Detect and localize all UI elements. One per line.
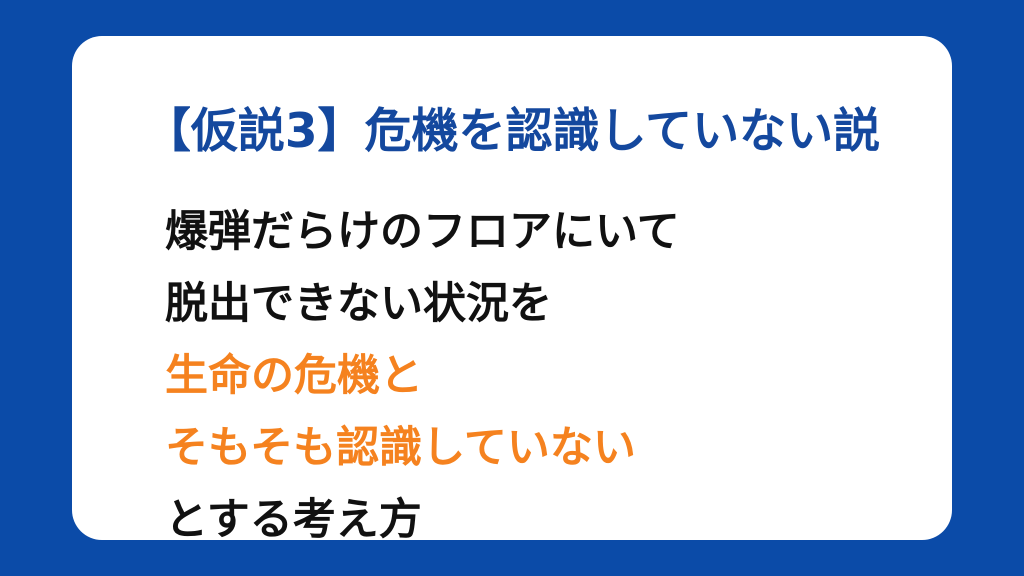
body-line-3-highlight: 生命の危機と <box>165 340 935 412</box>
body-line-5: とする考え方 <box>165 484 935 556</box>
content-card: 【仮説3】危機を認識していない説 爆弾だらけのフロアにいて 脱出できない状況を … <box>72 36 952 540</box>
body-line-1: 爆弾だらけのフロアにいて <box>165 196 935 268</box>
slide-canvas: 【仮説3】危機を認識していない説 爆弾だらけのフロアにいて 脱出できない状況を … <box>0 0 1024 576</box>
page-title: 【仮説3】危機を認識していない説 <box>72 108 952 155</box>
body-line-2: 脱出できない状況を <box>165 268 935 340</box>
body-text-block: 爆弾だらけのフロアにいて 脱出できない状況を 生命の危機と そもそも認識していな… <box>165 196 935 556</box>
body-line-4-highlight: そもそも認識していない <box>165 412 935 484</box>
